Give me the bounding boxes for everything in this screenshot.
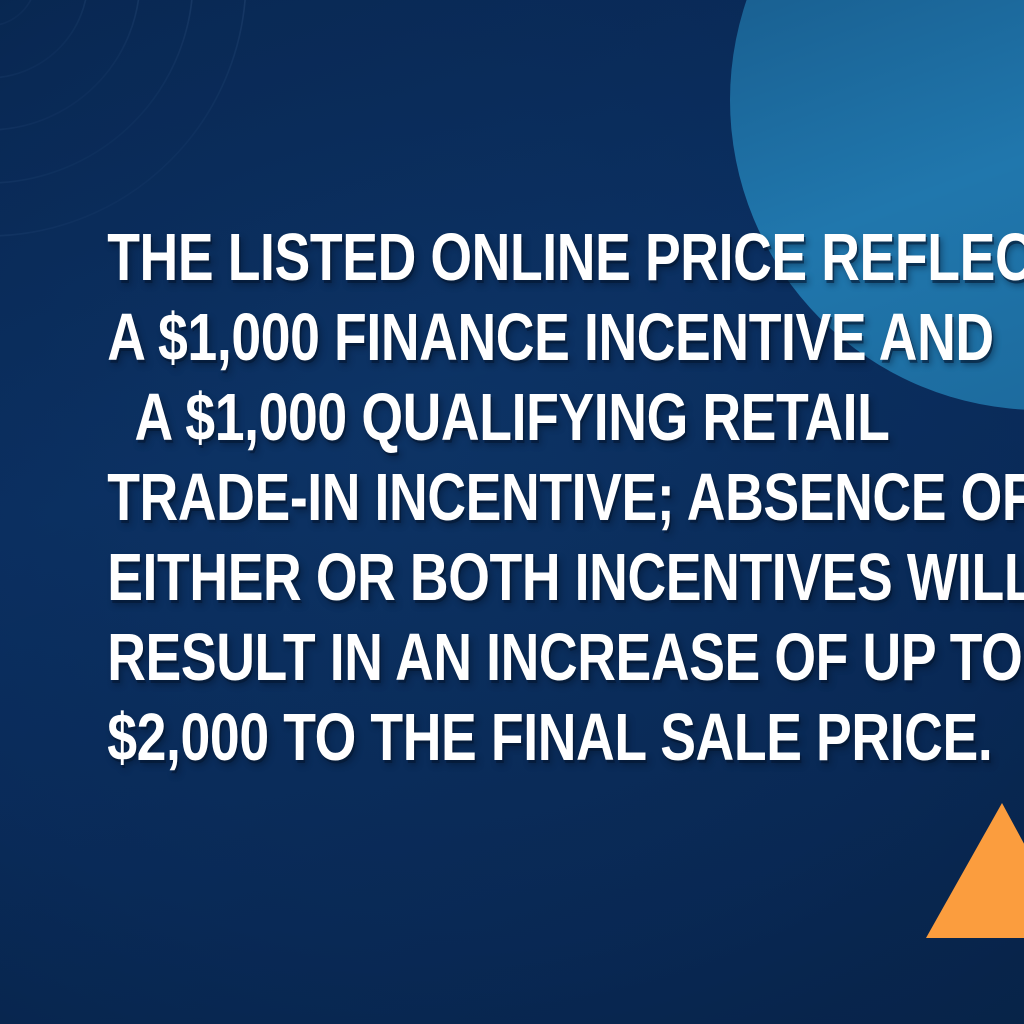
disclaimer-line-5: EITHER OR BOTH INCENTIVES WILL <box>107 538 917 618</box>
disclaimer-line-2: A $1,000 FINANCE INCENTIVE AND <box>107 298 917 378</box>
accent-triangle-decoration <box>900 790 1024 950</box>
disclaimer-line-7: $2,000 TO THE FINAL SALE PRICE. <box>107 698 917 778</box>
disclaimer-line-6: RESULT IN AN INCREASE OF UP TO <box>107 618 917 698</box>
disclaimer-line-1: THE LISTED ONLINE PRICE REFLECTS <box>107 218 917 298</box>
triangle-svg <box>900 790 1024 950</box>
disclaimer-line-4: TRADE-IN INCENTIVE; ABSENCE OF <box>107 458 917 538</box>
disclaimer-line-3: A $1,000 QUALIFYING RETAIL <box>107 378 917 458</box>
disclaimer-text-block: THE LISTED ONLINE PRICE REFLECTS A $1,00… <box>0 218 1024 778</box>
graphic-canvas: THE LISTED ONLINE PRICE REFLECTS A $1,00… <box>0 0 1024 1024</box>
